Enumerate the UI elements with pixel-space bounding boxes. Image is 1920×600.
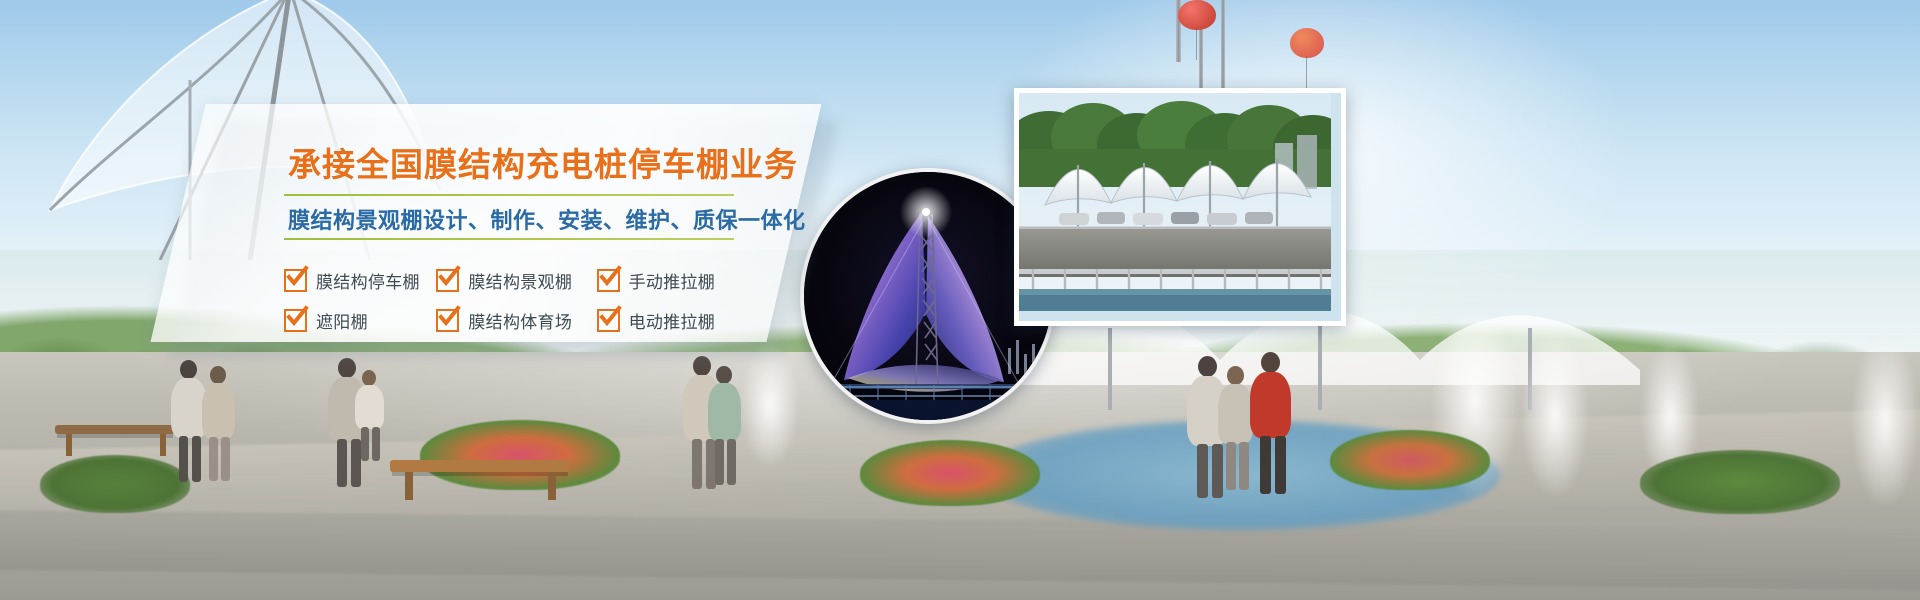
checkmark-icon <box>597 309 620 332</box>
feature-label: 膜结构停车棚 <box>316 268 420 293</box>
bench-1-leg-left <box>405 472 413 500</box>
divider-bottom <box>284 238 734 240</box>
feature-row-1: 膜结构停车棚 膜结构景观棚 手动推拉棚 <box>284 260 744 300</box>
checkmark-icon <box>597 269 620 292</box>
feature-item-membrane-carport[interactable]: 膜结构停车棚 <box>284 268 436 293</box>
bench-2-leg-right <box>160 434 166 456</box>
feature-item-sunshade[interactable]: 遮阳棚 <box>284 308 436 333</box>
banner-root: 承接全国膜结构充电桩停车棚业务 膜结构景观棚设计、制作、安装、维护、质保一体化 … <box>0 0 1920 600</box>
feature-label: 膜结构景观棚 <box>468 268 572 293</box>
checkmark-icon <box>284 309 307 332</box>
feature-label: 电动推拉棚 <box>629 308 716 333</box>
balloon-1-string <box>1196 28 1197 60</box>
bench-1-leg-right <box>548 472 556 500</box>
checkmark-icon <box>284 269 307 292</box>
checkmark-icon <box>436 309 459 332</box>
feature-label: 膜结构体育场 <box>468 308 572 333</box>
feature-item-membrane-stadium[interactable]: 膜结构体育场 <box>436 308 596 333</box>
photo-rect-image <box>1019 93 1331 311</box>
flowerbed-1 <box>420 420 620 490</box>
promo-panel-content: 承接全国膜结构充电桩停车棚业务 膜结构景观棚设计、制作、安装、维护、质保一体化 … <box>178 104 794 342</box>
balloon-2-string <box>1306 56 1307 90</box>
photo-rect-parking-canopy <box>1014 88 1346 326</box>
bench-2 <box>55 425 175 434</box>
feature-item-manual-retractable-canopy[interactable]: 手动推拉棚 <box>597 268 744 293</box>
bench-2-leg-left <box>66 434 72 456</box>
page-subtitle: 膜结构景观棚设计、制作、安装、维护、质保一体化 <box>288 203 806 235</box>
feature-label: 手动推拉棚 <box>629 268 716 293</box>
balloon-2 <box>1290 28 1324 58</box>
flowerbed-3 <box>1330 430 1490 490</box>
feature-item-electric-retractable-canopy[interactable]: 电动推拉棚 <box>597 308 744 333</box>
checkmark-icon <box>436 269 459 292</box>
divider-top <box>284 194 734 196</box>
feature-label: 遮阳棚 <box>316 308 368 333</box>
fountain-4 <box>1850 330 1920 510</box>
page-title: 承接全国膜结构充电桩停车棚业务 <box>288 138 798 186</box>
feature-row-2: 遮阳棚 膜结构体育场 电动推拉棚 <box>284 300 744 340</box>
feature-item-membrane-landscape-canopy[interactable]: 膜结构景观棚 <box>436 268 596 293</box>
promo-panel: 承接全国膜结构充电桩停车棚业务 膜结构景观棚设计、制作、安装、维护、质保一体化 … <box>178 104 838 362</box>
flowerbed-5 <box>1640 450 1840 514</box>
pole-3 <box>1221 0 1225 100</box>
fountain-2 <box>1520 330 1590 500</box>
bench-1 <box>390 460 570 472</box>
flowerbed-2 <box>860 440 1040 506</box>
feature-list: 膜结构停车棚 膜结构景观棚 手动推拉棚 <box>284 260 744 340</box>
flowerbed-4 <box>40 455 190 513</box>
balloon-1 <box>1178 0 1216 30</box>
